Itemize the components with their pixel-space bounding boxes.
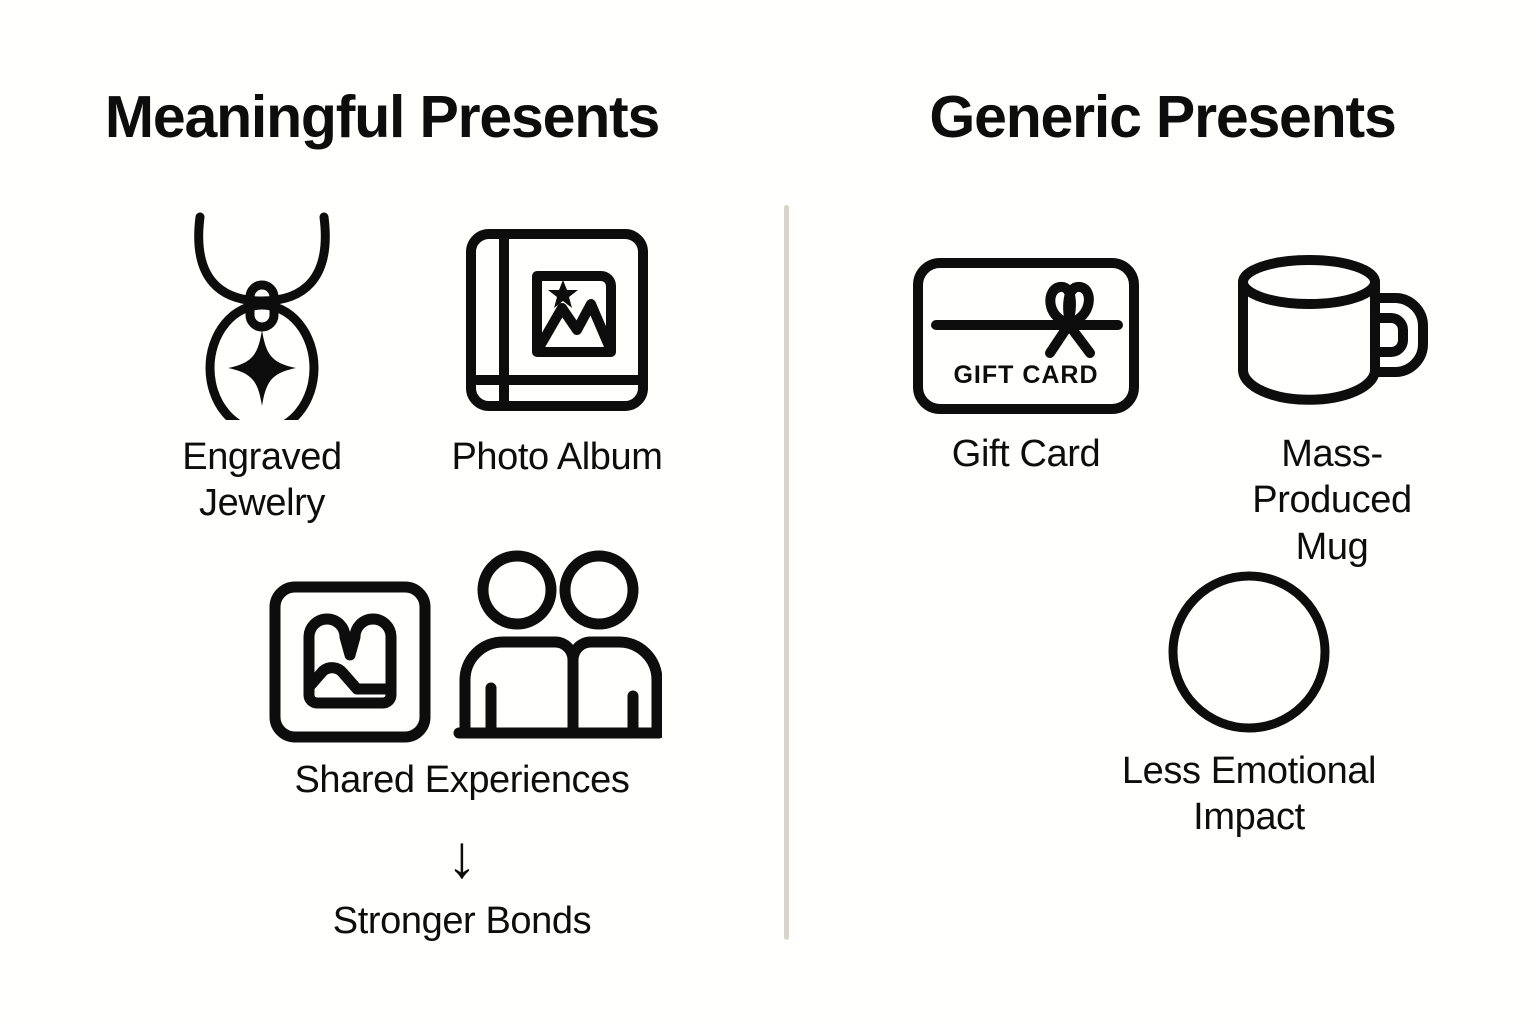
label-line-3: Mug — [1296, 526, 1369, 568]
item-label: Engraved Jewelry — [128, 434, 396, 527]
right-column-title: Generic Presents — [789, 88, 1536, 147]
item-shared-experiences: Shared Experiences — [232, 548, 692, 803]
item-mass-produced-mug: Mass- Produced Mug — [1187, 232, 1477, 570]
item-photo-album: Photo Album — [412, 205, 702, 480]
left-column-title: Meaningful Presents — [0, 88, 774, 147]
item-engraved-jewelry: Engraved Jewelry — [128, 205, 396, 527]
generic-presents-column: Generic Presents GIFT CARD Gift C — [789, 0, 1536, 1024]
two-people-icon — [447, 548, 662, 743]
photo-album-book-icon — [412, 205, 702, 420]
item-gift-card: GIFT CARD Gift Card — [876, 232, 1176, 477]
label-line-1: Gift Card — [952, 433, 1100, 475]
label-line-1: Engraved — [182, 436, 341, 478]
label-line-2: Impact — [1193, 796, 1305, 838]
coffee-mug-icon — [1187, 232, 1477, 417]
infographic-canvas: Meaningful Presents Engraved Jewelry — [0, 0, 1536, 1024]
outcome-stronger-bonds: ↓ Stronger Bonds — [232, 830, 692, 944]
item-label: Mass- Produced Mug — [1187, 431, 1477, 570]
item-label: Gift Card — [876, 431, 1176, 477]
item-label: Shared Experiences — [232, 757, 692, 803]
item-label: Photo Album — [412, 434, 702, 480]
label-line-1: Photo Album — [451, 436, 662, 478]
label-line-2: Jewelry — [199, 482, 325, 524]
arrow-down-icon: ↓ — [232, 830, 692, 884]
framed-landscape-icon — [263, 563, 443, 743]
label-line-1: Mass- — [1281, 433, 1382, 475]
engraved-necklace-icon — [128, 205, 396, 420]
gift-card-inner-text: GIFT CARD — [953, 361, 1098, 389]
gift-card-icon: GIFT CARD — [876, 232, 1176, 417]
label-line-1: Shared Experiences — [294, 759, 629, 801]
label-line-1: Less Emotional — [1122, 750, 1376, 792]
empty-circle-icon — [1079, 570, 1419, 734]
item-label: Less Emotional Impact — [1079, 748, 1419, 841]
label-line-2: Produced — [1252, 479, 1411, 521]
shared-experiences-icons — [232, 548, 692, 743]
outcome-label: Stronger Bonds — [232, 898, 692, 944]
meaningful-presents-column: Meaningful Presents Engraved Jewelry — [0, 0, 784, 1024]
item-less-emotional-impact: Less Emotional Impact — [1079, 570, 1419, 841]
